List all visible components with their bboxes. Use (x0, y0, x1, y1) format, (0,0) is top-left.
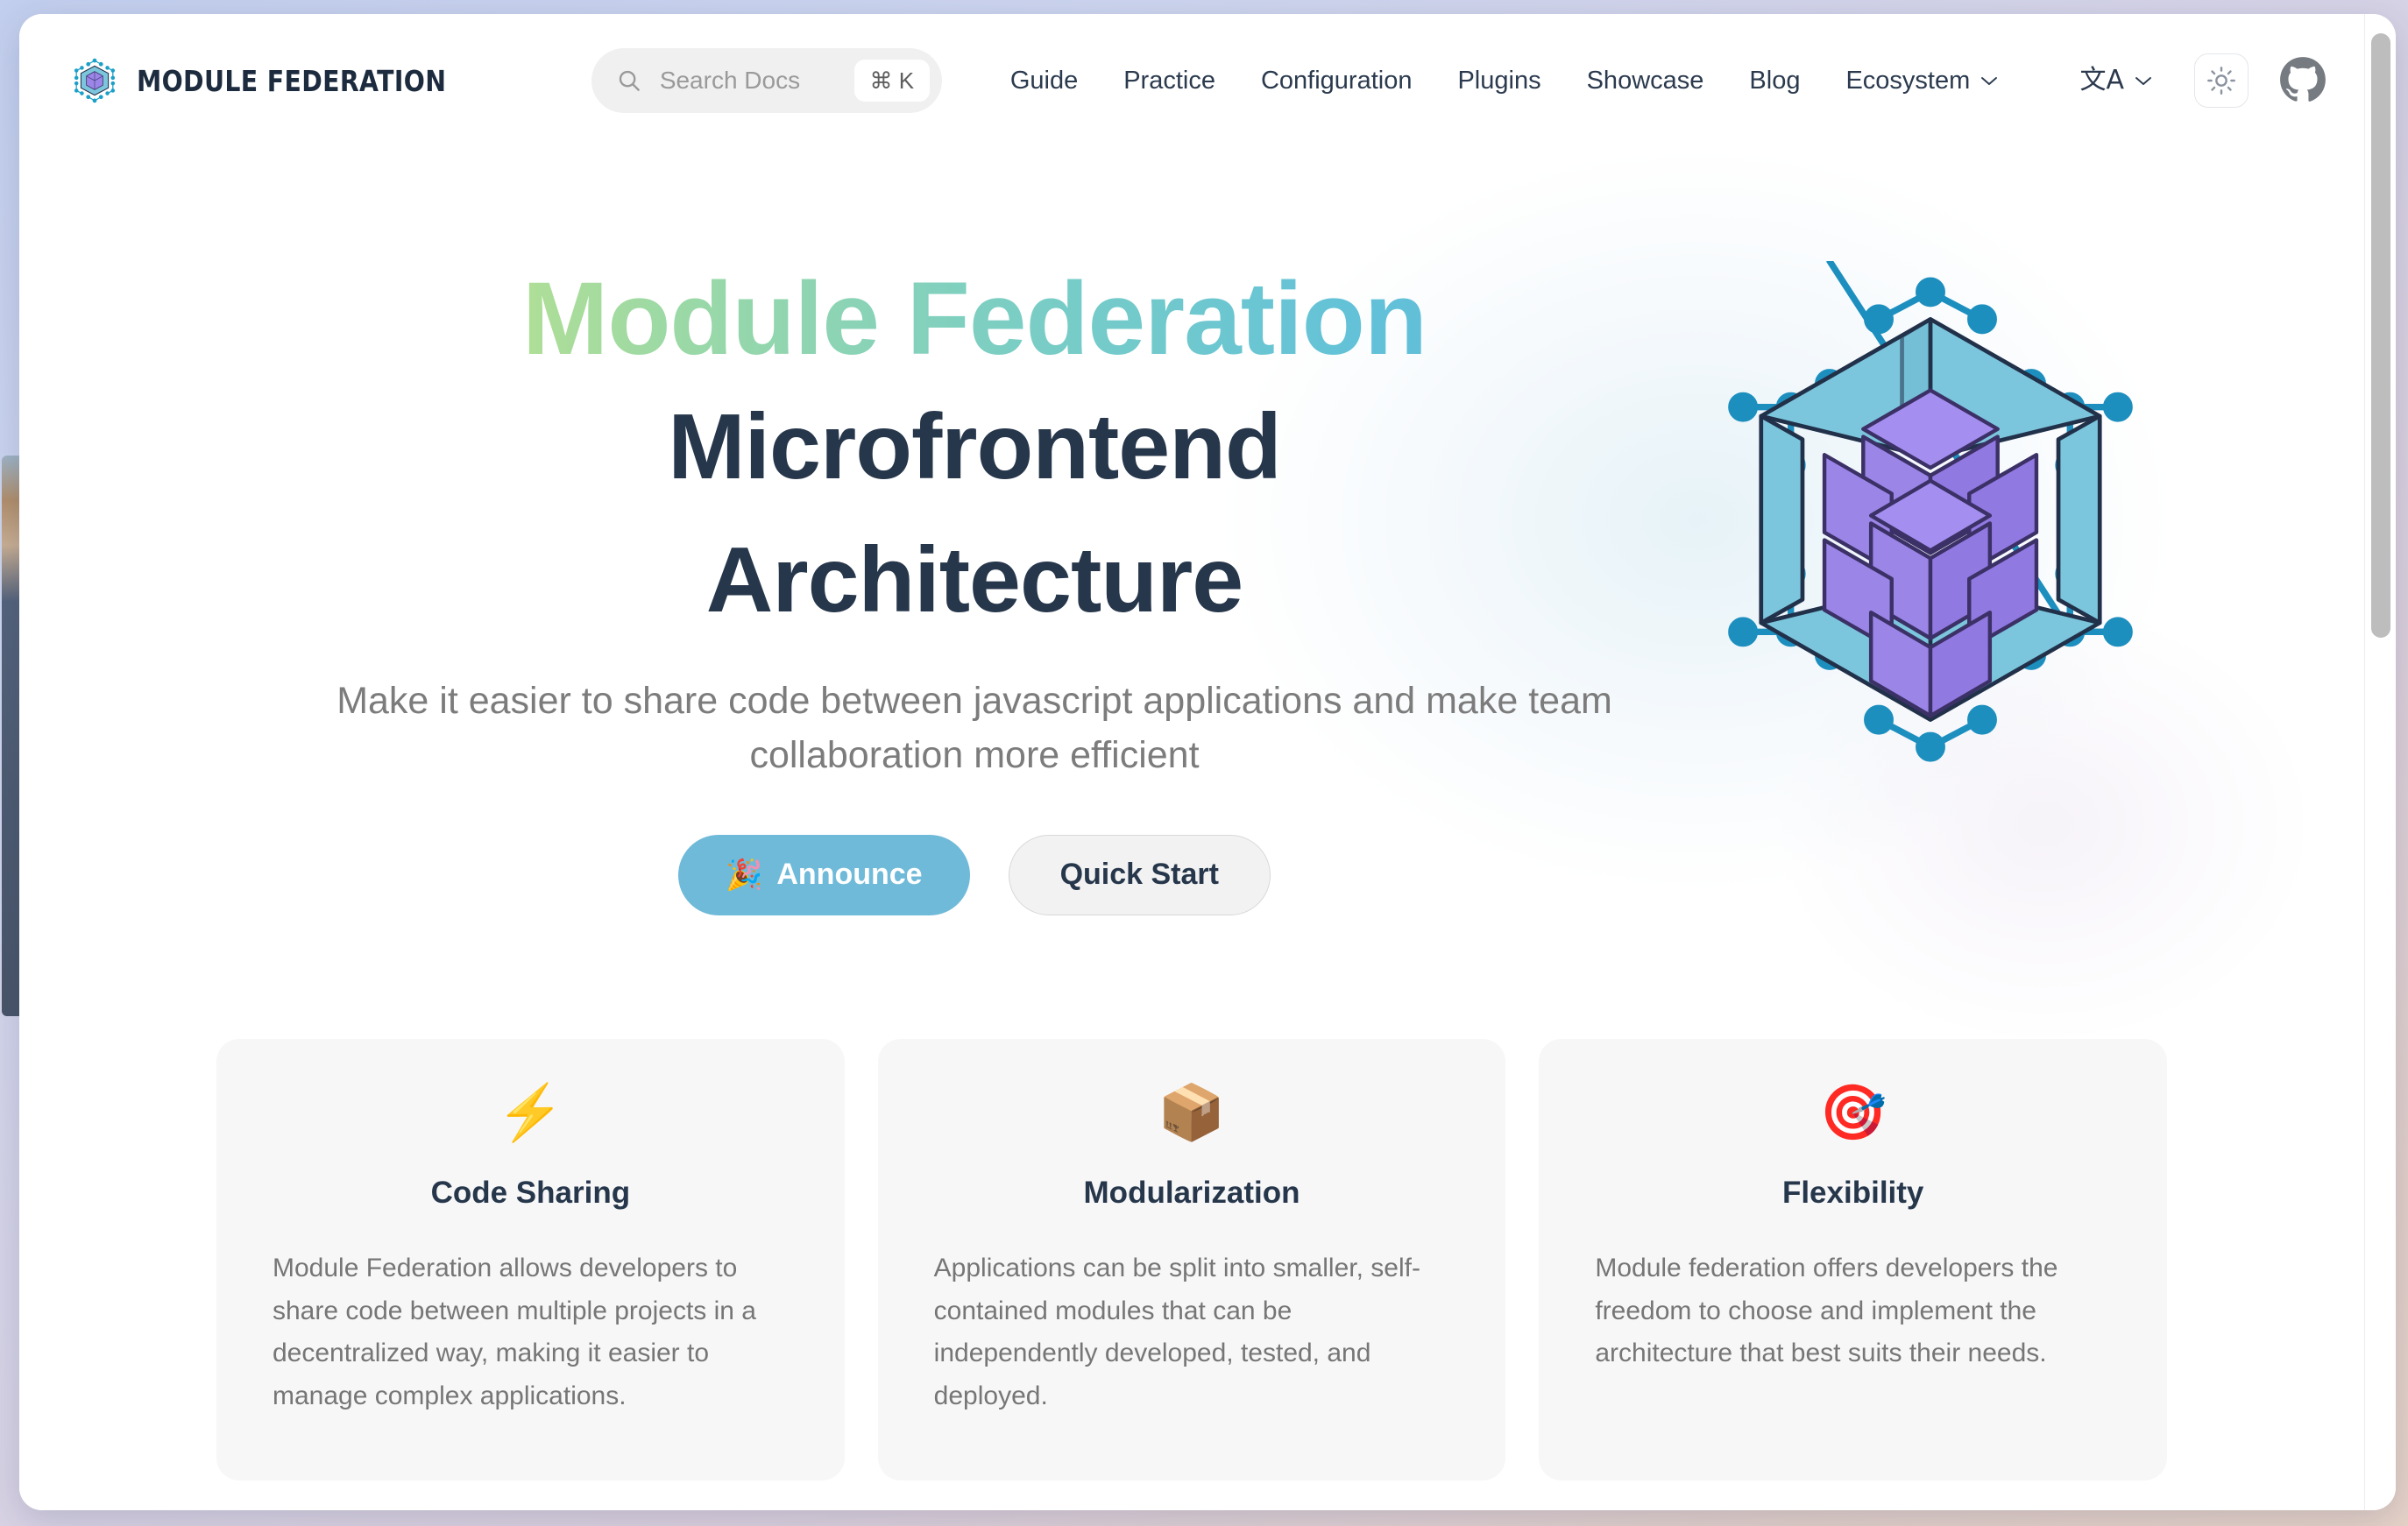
translate-icon: 文A (2079, 67, 2124, 94)
announce-button-label: Announce (776, 858, 922, 892)
page-scrollbar[interactable] (2364, 14, 2396, 1510)
hero-subtitle: Make it easier to share code between jav… (251, 675, 1697, 781)
feature-card-modularization[interactable]: 📦 Modularization Applications can be spl… (878, 1039, 1506, 1480)
chevron-down-icon (1980, 75, 1998, 86)
brand-name: MODULE FEDERATION (137, 64, 446, 98)
quick-start-button-label: Quick Start (1060, 858, 1219, 892)
module-federation-cube-logo-icon (72, 58, 117, 103)
nav-label: Configuration (1261, 67, 1413, 95)
lightning-bolt-icon: ⚡ (273, 1086, 789, 1141)
nav-label: Showcase (1587, 67, 1704, 95)
main-nav: Guide Practice Configuration Plugins Sho… (988, 56, 2068, 106)
hero-copy: Module Federation Microfrontend Architec… (19, 147, 1930, 915)
search-shortcut-badge: ⌘ K (854, 60, 930, 102)
header-actions: 文A (2067, 53, 2327, 108)
nav-item-guide[interactable]: Guide (988, 56, 1101, 106)
feature-card-title: Modularization (934, 1176, 1450, 1211)
package-box-icon: 📦 (934, 1086, 1450, 1141)
search-input[interactable]: Search Docs ⌘ K (591, 48, 942, 113)
nav-label: Blog (1749, 67, 1800, 95)
feature-card-description: Applications can be split into smaller, … (934, 1247, 1450, 1417)
feature-card-description: Module federation offers developers the … (1595, 1247, 2111, 1375)
target-dart-icon: 🎯 (1595, 1086, 2111, 1141)
nav-label: Ecosystem (1845, 67, 1970, 95)
hero-gradient-title: Module Federation (19, 261, 1930, 377)
nav-label: Practice (1123, 67, 1215, 95)
site-header: MODULE FEDERATION Search Docs ⌘ K Guide … (19, 14, 2364, 147)
nav-item-blog[interactable]: Blog (1726, 56, 1823, 106)
github-icon[interactable] (2278, 56, 2327, 105)
hero-title-line-2: Architecture (19, 517, 1930, 643)
party-popper-icon: 🎉 (726, 858, 762, 893)
nav-item-ecosystem[interactable]: Ecosystem (1823, 56, 2021, 106)
search-placeholder: Search Docs (660, 67, 854, 95)
nav-item-practice[interactable]: Practice (1101, 56, 1238, 106)
language-switcher[interactable]: 文A (2067, 59, 2164, 102)
nav-label: Plugins (1457, 67, 1540, 95)
quick-start-button[interactable]: Quick Start (1009, 835, 1271, 915)
hero-title-line-1: Microfrontend (19, 384, 1930, 510)
nav-label: Guide (1010, 67, 1078, 95)
scrollbar-thumb[interactable] (2371, 33, 2390, 638)
feature-card-flexibility[interactable]: 🎯 Flexibility Module federation offers d… (1539, 1039, 2167, 1480)
theme-toggle-button[interactable] (2194, 53, 2249, 108)
sun-icon (2206, 66, 2236, 95)
brand-logo[interactable]: MODULE FEDERATION (72, 58, 497, 103)
nav-item-configuration[interactable]: Configuration (1238, 56, 1435, 106)
chevron-down-icon (2135, 75, 2152, 86)
feature-card-title: Code Sharing (273, 1176, 789, 1211)
announce-button[interactable]: 🎉 Announce (678, 835, 970, 915)
feature-cards: ⚡ Code Sharing Module Federation allows … (19, 1039, 2364, 1480)
page-viewport: MODULE FEDERATION Search Docs ⌘ K Guide … (19, 14, 2364, 1510)
browser-window: MODULE FEDERATION Search Docs ⌘ K Guide … (19, 14, 2396, 1510)
feature-card-code-sharing[interactable]: ⚡ Code Sharing Module Federation allows … (216, 1039, 845, 1480)
feature-card-description: Module Federation allows developers to s… (273, 1247, 789, 1417)
desktop-background: MODULE FEDERATION Search Docs ⌘ K Guide … (0, 0, 2408, 1526)
nav-item-plugins[interactable]: Plugins (1434, 56, 1563, 106)
nav-item-showcase[interactable]: Showcase (1564, 56, 1727, 106)
feature-card-title: Flexibility (1595, 1176, 2111, 1211)
hero-buttons: 🎉 Announce Quick Start (19, 835, 1930, 915)
search-icon (616, 67, 642, 94)
hero-section: Module Federation Microfrontend Architec… (19, 147, 2364, 1039)
